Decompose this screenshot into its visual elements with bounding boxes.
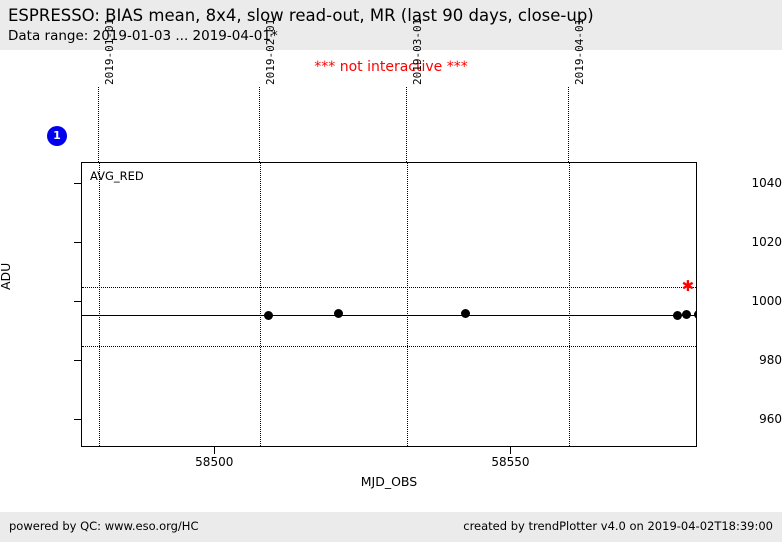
data-range-subtitle: Data range: 2019-01-03 ... 2019-04-01* bbox=[8, 27, 774, 46]
threshold-line-upper bbox=[82, 287, 697, 288]
y-tick-mark bbox=[74, 419, 81, 420]
trend-plot-page: ESPRESSO: BIAS mean, 8x4, slow read-out,… bbox=[0, 0, 782, 542]
top-date-tick bbox=[259, 87, 260, 162]
data-point bbox=[334, 309, 343, 318]
series-badge-1: 1 bbox=[47, 126, 67, 146]
threshold-line-lower bbox=[82, 346, 697, 347]
top-date-tick bbox=[568, 87, 569, 162]
y-tick-mark bbox=[74, 360, 81, 361]
x-tick-label: 58500 bbox=[195, 455, 233, 469]
y-tick-label: 980 bbox=[736, 353, 782, 367]
footer-created-by: created by trendPlotter v4.0 on 2019-04-… bbox=[463, 519, 773, 533]
data-point bbox=[461, 309, 470, 318]
plot-area: AVG_RED ✱ bbox=[81, 162, 697, 447]
x-axis-label: MJD_OBS bbox=[81, 474, 697, 489]
data-point-flagged: ✱ bbox=[681, 279, 695, 293]
gridline-vertical-2 bbox=[260, 163, 261, 447]
gridline-vertical-3 bbox=[407, 163, 408, 447]
reference-line-mean bbox=[82, 315, 697, 316]
page-header: ESPRESSO: BIAS mean, 8x4, slow read-out,… bbox=[0, 0, 782, 50]
y-tick-label: 1000 bbox=[736, 294, 782, 308]
data-point bbox=[694, 310, 698, 319]
top-date-label: 2019-03-01 bbox=[411, 19, 424, 85]
footer-powered-by: powered by QC: www.eso.org/HC bbox=[9, 519, 198, 533]
data-point bbox=[673, 311, 682, 320]
top-date-tick bbox=[98, 87, 99, 162]
data-point bbox=[264, 311, 273, 320]
top-date-label: 2019-04-01 bbox=[573, 19, 586, 85]
x-tick-mark bbox=[510, 447, 511, 454]
top-date-tick bbox=[406, 87, 407, 162]
gridline-vertical-4 bbox=[569, 163, 570, 447]
not-interactive-notice: *** not interactive *** bbox=[0, 59, 782, 75]
y-tick-label: 1040 bbox=[736, 176, 782, 190]
y-tick-label: 1020 bbox=[736, 235, 782, 249]
gridline-vertical-1 bbox=[99, 163, 100, 447]
y-tick-label: 960 bbox=[736, 412, 782, 426]
x-tick-mark bbox=[214, 447, 215, 454]
page-title: ESPRESSO: BIAS mean, 8x4, slow read-out,… bbox=[8, 4, 774, 27]
top-date-label: 2019-02-01 bbox=[264, 19, 277, 85]
page-footer: powered by QC: www.eso.org/HC created by… bbox=[0, 512, 782, 542]
y-tick-mark bbox=[74, 242, 81, 243]
top-date-label: 2019-01-01 bbox=[103, 19, 116, 85]
y-axis-label: ADU bbox=[0, 263, 13, 290]
y-tick-mark bbox=[74, 301, 81, 302]
data-point bbox=[682, 310, 691, 319]
y-tick-mark bbox=[74, 183, 81, 184]
x-tick-label: 58550 bbox=[491, 455, 529, 469]
